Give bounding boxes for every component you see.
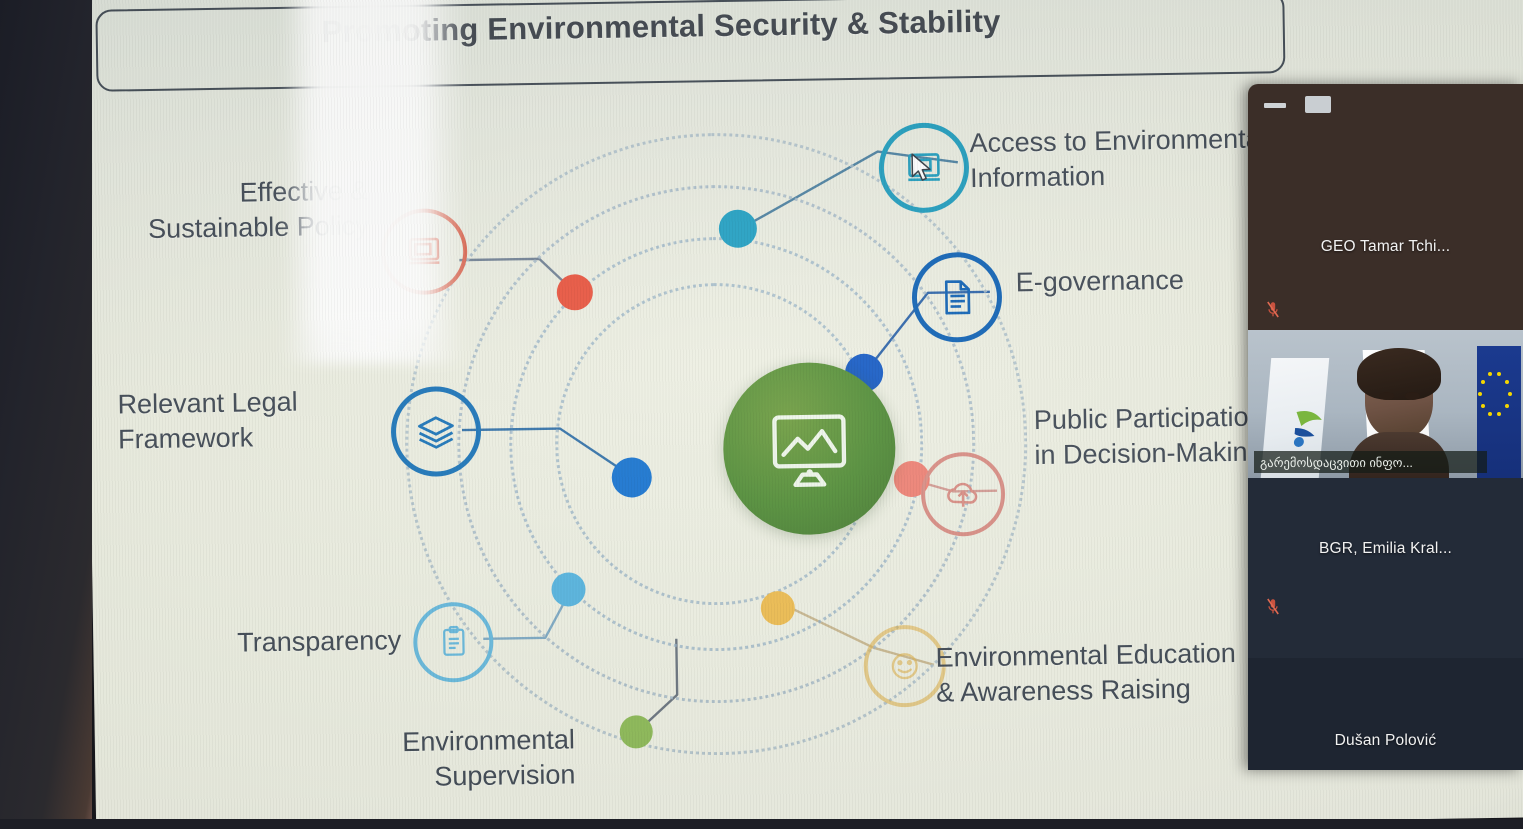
participant-tile-geo-tamar[interactable]: GEO Tamar Tchi... [1248,120,1523,330]
window-icon[interactable] [1305,96,1331,113]
video-conference-panel: GEO Tamar Tchi... [1248,84,1523,770]
label-line-2: Supervision [285,757,576,797]
participant-tile-speaker-video[interactable]: გარემოსდაცვითი ინფო... [1248,330,1523,478]
mic-muted-icon [1266,598,1280,615]
participant-tile-bgr-emilia[interactable]: BGR, Emilia Kral... [1248,478,1523,658]
grid-view-icon[interactable] [1383,94,1407,116]
label-environmental-supervision: Environmental Supervision [285,722,576,797]
label-line-1: Relevant Legal [117,383,388,422]
label-line-1: Environmental [285,722,576,762]
video-panel-toolbar [1248,84,1523,120]
label-relevant-legal-framework: Relevant Legal Framework [117,383,388,457]
avatar-hair [1357,348,1441,400]
label-line-2: Sustainable Policy [83,209,369,249]
minimize-icon[interactable] [1264,103,1286,108]
room-dark-surround-left [0,0,92,829]
organization-logo-icon [1289,406,1327,452]
split-view-icon[interactable] [1344,94,1368,116]
label-transparency: Transparency [133,623,402,662]
label-line-2: Framework [118,418,389,457]
mouse-pointer-icon [909,152,935,184]
participant-name: Dušan Polović [1248,732,1523,750]
video-stream: გარემოსდაცვითი ინფო... [1248,330,1523,478]
room-dark-surround-bottom [0,819,1523,829]
label-line-1: Effective & [83,174,368,214]
label-line-1: Transparency [133,623,402,662]
participant-tile-dusan-polovic[interactable]: Dušan Polović [1248,658,1523,770]
video-caption: გარემოსდაცვითი ინფო... [1254,451,1487,473]
label-effective-sustainable-policy: Effective & Sustainable Policy [83,174,369,249]
photographed-screen: Promoting Environmental Security & Stabi… [0,0,1523,829]
participant-name: BGR, Emilia Kral... [1248,540,1523,558]
caption-text: გარემოსდაცვითი ინფო... [1260,455,1413,470]
participant-name: GEO Tamar Tchi... [1248,238,1523,256]
mic-muted-icon [1266,301,1280,318]
